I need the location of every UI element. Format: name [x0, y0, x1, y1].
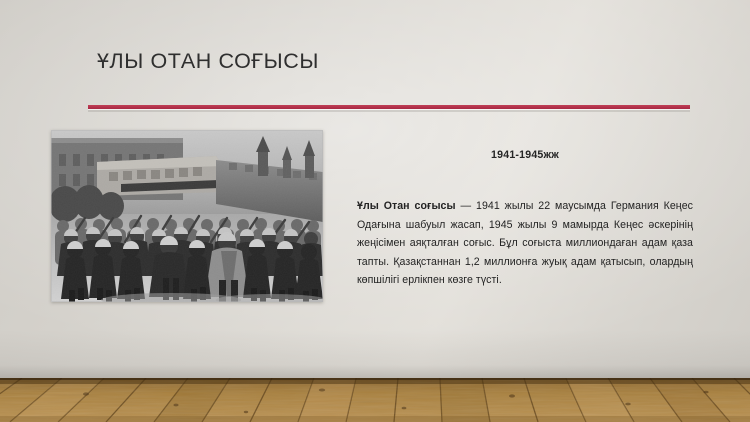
body-lead-term: Ұлы Отан соғысы	[357, 200, 456, 212]
photo-illustration	[51, 130, 323, 302]
background-bottom-shadow	[0, 330, 750, 380]
wooden-floor	[0, 378, 750, 422]
body-paragraph: Ұлы Отан соғысы — 1941 жылы 22 маусымда …	[357, 197, 693, 290]
floor-edge-line	[0, 378, 750, 380]
historical-photo	[51, 130, 323, 302]
date-range-heading: 1941-1945жж	[358, 149, 692, 161]
accent-divider	[88, 105, 690, 112]
accent-divider-shadow	[88, 110, 690, 112]
page-title: ҰЛЫ ОТАН СОҒЫСЫ	[97, 49, 319, 74]
presentation-slide: ҰЛЫ ОТАН СОҒЫСЫ	[0, 0, 750, 422]
body-rest-text: — 1941 жылы 22 маусымда Германия Кеңес О…	[357, 200, 693, 286]
floor-planks	[0, 378, 750, 422]
